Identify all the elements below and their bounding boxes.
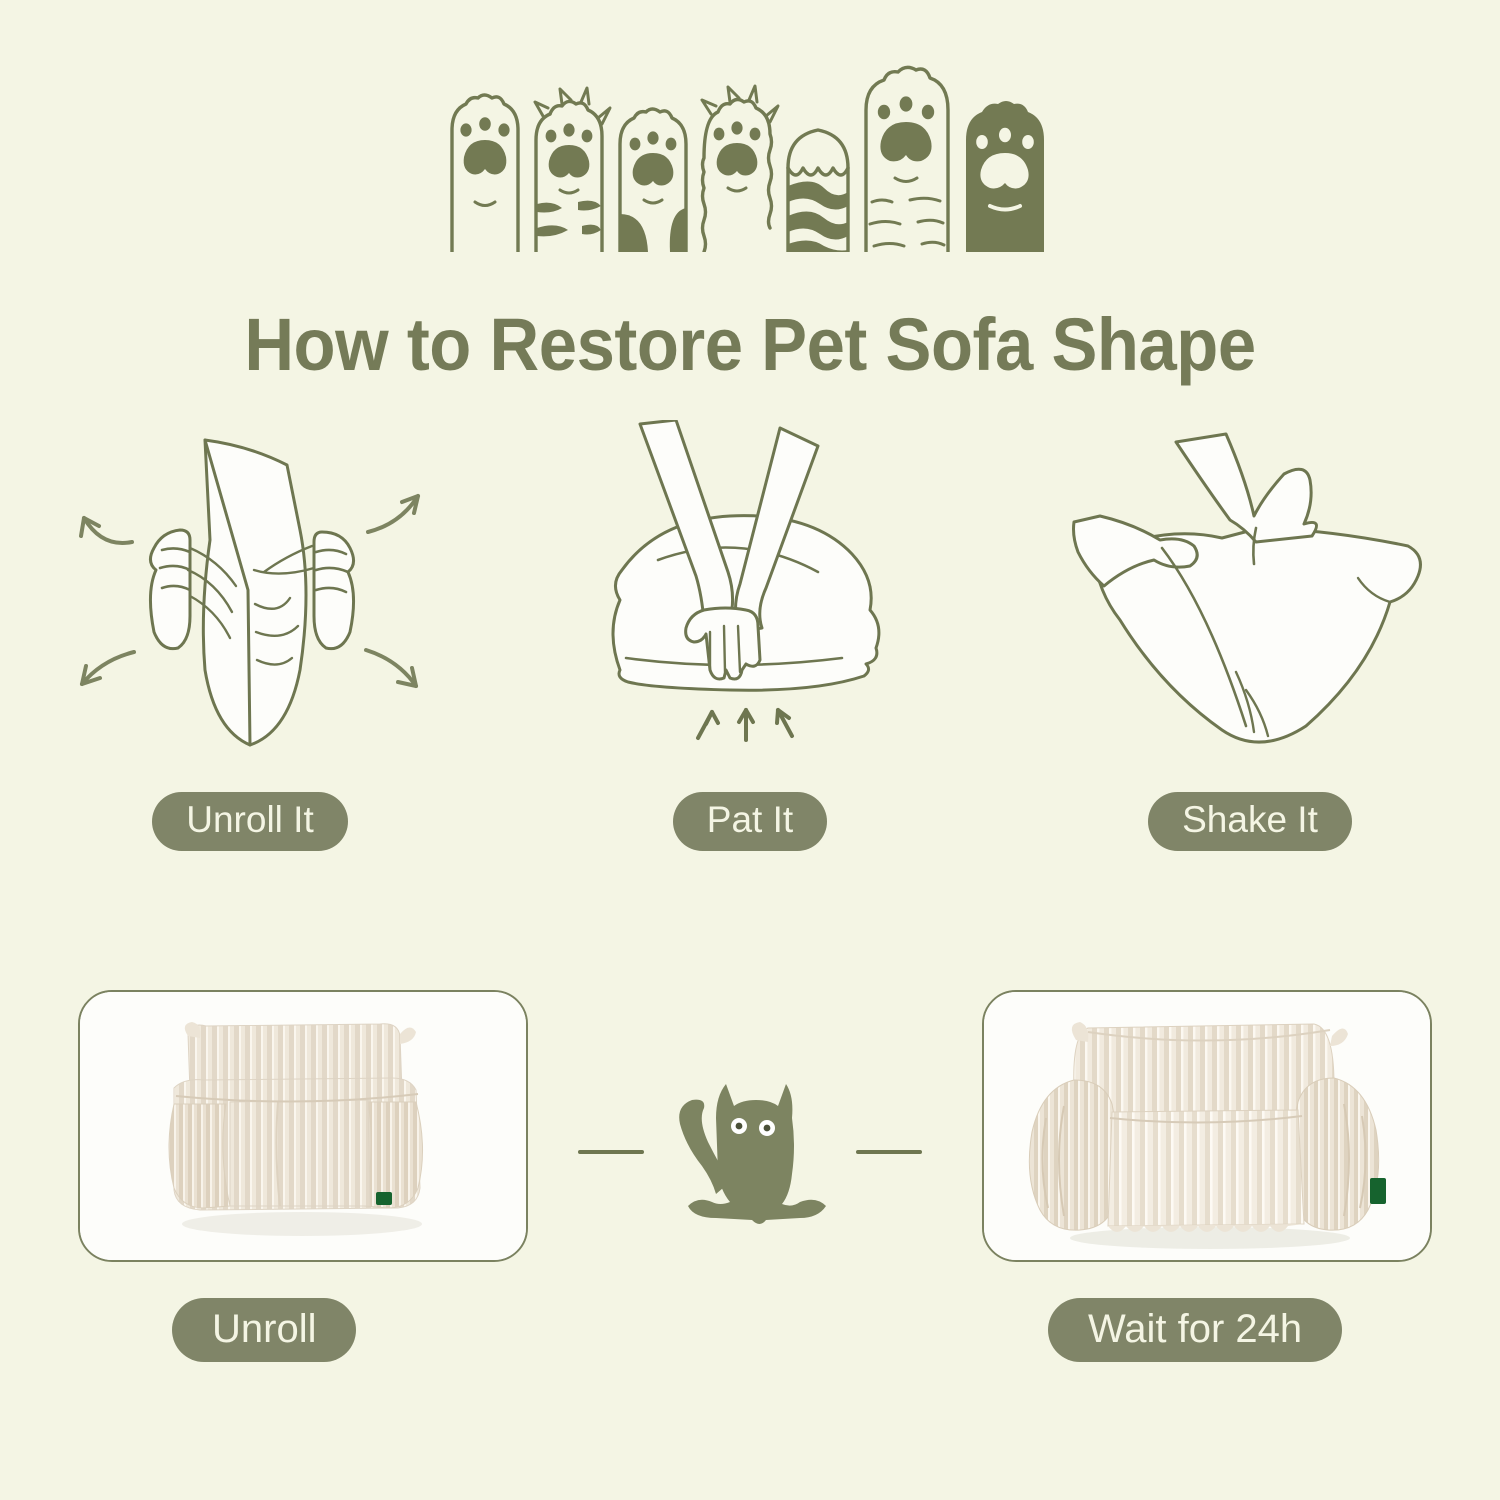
paw-7 [966,101,1044,252]
step-label-pat: Pat It [673,792,827,851]
brand-tag [1370,1178,1386,1204]
before-label: Unroll [172,1298,356,1362]
paw-1 [452,95,518,252]
paw-6 [866,67,948,252]
paws-svg [440,62,1060,252]
step-label-pat-wrap: Pat It [673,792,827,851]
hands-shaking-bed-icon [1070,420,1430,770]
before-photo-card [78,990,528,1262]
brand-tag [376,1192,392,1205]
arrow-up-right [368,496,418,532]
paw-4 [702,86,778,252]
step-unroll: Unroll It [0,420,500,870]
step-shake: Shake It [1000,420,1500,870]
before-label-wrap: Unroll [172,1298,356,1362]
arrow-down-right [366,650,416,686]
step-label-shake-wrap: Shake It [1148,792,1352,851]
cat-paws-row-icon [0,62,1500,252]
step-pat: Pat It [500,420,1000,870]
step-label-shake: Shake It [1148,792,1352,851]
steps-row: Unroll It [0,420,1500,870]
after-label: Wait for 24h [1048,1298,1342,1362]
before-after-row [0,990,1500,1290]
step-label-unroll: Unroll It [152,792,347,851]
hands-patting-cushion-icon [580,420,920,770]
after-photo-card [982,990,1432,1262]
page-title: How to Restore Pet Sofa Shape [53,302,1448,387]
sitting-cat-silhouette-icon [570,1062,930,1242]
arrow-down-left [82,652,134,684]
expanded-pet-sofa-photo [984,992,1430,1260]
paw-3 [620,109,686,252]
compressed-folded-pet-sofa-photo [80,992,526,1260]
step-label-unroll-wrap: Unroll It [152,792,347,851]
before-after-labels: Unroll Wait for 24h [0,1298,1500,1388]
infographic-page: How to Restore Pet Sofa Shape [0,0,1500,1500]
paw-2 [535,88,610,252]
hands-stretching-bed-icon [50,420,450,770]
after-label-wrap: Wait for 24h [1048,1298,1342,1362]
paw-5 [788,130,848,252]
